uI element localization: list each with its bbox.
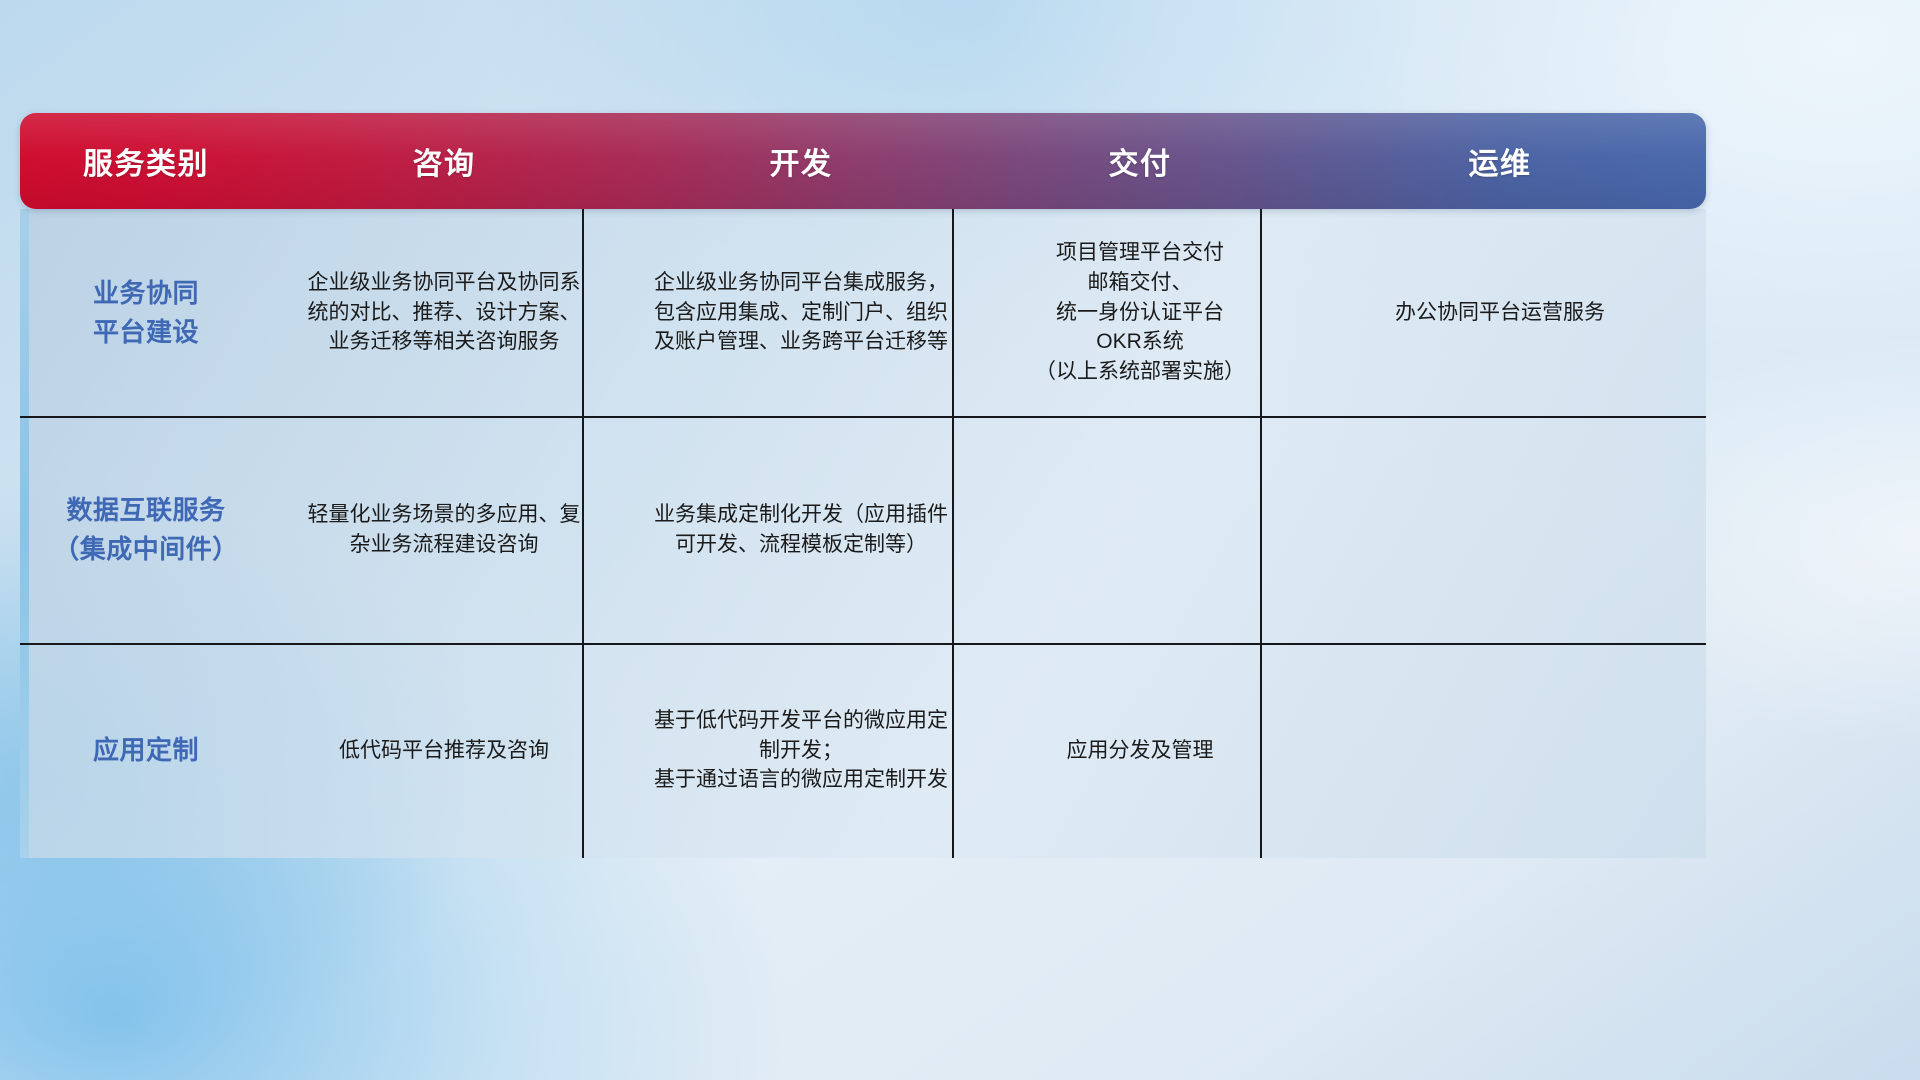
table-row: 应用定制 (20, 643, 272, 858)
column-header-delivery: 交付 (986, 139, 1294, 183)
column-header-development: 开发 (616, 139, 986, 183)
row-divider (20, 416, 1706, 418)
cell-development: 企业级业务协同平台集成服务， 包含应用集成、定制门户、组织 及账户管理、业务跨平… (616, 209, 986, 416)
cell-operations: 办公协同平台运营服务 (1294, 209, 1706, 416)
cell-development: 基于低代码开发平台的微应用定 制开发； 基于通过语言的微应用定制开发 (616, 643, 986, 858)
cell-consulting: 轻量化业务场景的多应用、复 杂业务流程建设咨询 (272, 416, 616, 643)
table-header-row: 服务类别 咨询 开发 交付 运维 (20, 113, 1706, 209)
cell-delivery (986, 416, 1294, 643)
cell-consulting: 企业级业务协同平台及协同系 统的对比、推荐、设计方案、 业务迁移等相关咨询服务 (272, 209, 616, 416)
cell-consulting: 低代码平台推荐及咨询 (272, 643, 616, 858)
table-body: 业务协同 平台建设 企业级业务协同平台及协同系 统的对比、推荐、设计方案、 业务… (20, 209, 1706, 858)
row-divider (20, 643, 1706, 645)
cell-development: 业务集成定制化开发（应用插件 可开发、流程模板定制等） (616, 416, 986, 643)
column-header-operations: 运维 (1294, 139, 1706, 183)
table-row: 数据互联服务 （集成中间件） (20, 416, 272, 643)
column-header-category: 服务类别 (20, 139, 272, 183)
column-divider (582, 209, 584, 858)
cell-delivery: 项目管理平台交付 邮箱交付、 统一身份认证平台 OKR系统 （以上系统部署实施） (986, 209, 1294, 416)
column-divider (1260, 209, 1262, 858)
cell-delivery: 应用分发及管理 (986, 643, 1294, 858)
column-header-consulting: 咨询 (272, 139, 616, 183)
cell-operations (1294, 416, 1706, 643)
service-matrix-table: 服务类别 咨询 开发 交付 运维 业务协同 平台建设 企业级业务协同平台及协同系… (20, 113, 1706, 858)
table-row: 业务协同 平台建设 (20, 209, 272, 416)
cell-operations (1294, 643, 1706, 858)
column-divider (952, 209, 954, 858)
